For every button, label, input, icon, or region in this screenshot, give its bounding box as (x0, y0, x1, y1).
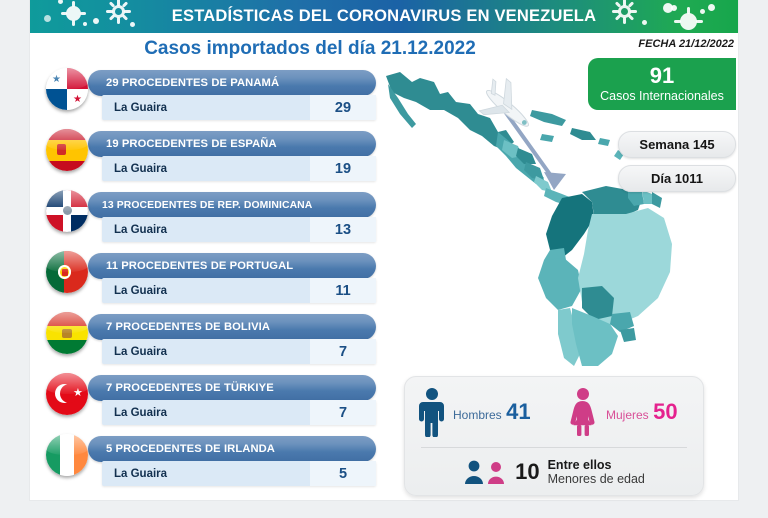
list-item[interactable]: ★ 7 PROCEDENTES DE TÜRKIYE La Guaira 7 (46, 373, 386, 434)
country-pill[interactable]: 11 PROCEDENTES DE PORTUGAL (88, 253, 376, 279)
male-stat: Hombres 41 (405, 381, 554, 443)
day-badge: Día 1011 (618, 165, 736, 192)
male-label: Hombres (453, 408, 502, 422)
flag-bolivia-icon (46, 312, 88, 354)
country-pill[interactable]: 29 PROCEDENTES DE PANAMÁ (88, 70, 376, 96)
female-count: 50 (653, 399, 677, 424)
international-cases-label: Casos Internacionales (600, 90, 724, 103)
country-title: 19 PROCEDENTES DE ESPAÑA (88, 138, 277, 150)
country-detail-row: La Guaira 11 (102, 278, 376, 303)
place-label: La Guaira (102, 224, 167, 236)
country-title: 5 PROCEDENTES DE IRLANDA (88, 443, 275, 455)
minors-row: 10 Entre ellos Menores de edad (405, 451, 703, 493)
fecha-label: FECHA 21/12/2022 (638, 38, 734, 50)
flag-turkiye-icon: ★ (46, 373, 88, 415)
case-count: 11 (310, 278, 376, 303)
case-count: 19 (310, 156, 376, 181)
flag-ireland-icon (46, 434, 88, 476)
country-detail-row: La Guaira 7 (102, 339, 376, 364)
map-region-jamaica (540, 134, 554, 142)
country-pill[interactable]: 7 PROCEDENTES DE BOLIVIA (88, 314, 376, 340)
map-region-uruguay (620, 328, 636, 342)
map-region-hispaniola (570, 128, 596, 140)
minors-avatars-icon (463, 459, 509, 485)
country-rows-list: ★ ★ 29 PROCEDENTES DE PANAMÁ La Guaira 2… (46, 68, 386, 495)
flag-panama-icon: ★ ★ (46, 68, 88, 110)
country-detail-row: La Guaira 13 (102, 217, 376, 242)
international-cases-number: 91 (650, 65, 674, 87)
country-detail-row: La Guaira 5 (102, 461, 376, 486)
flag-spain-icon (46, 129, 88, 171)
country-title: 11 PROCEDENTES DE PORTUGAL (88, 260, 293, 272)
list-item[interactable]: 13 PROCEDENTES DE REP. DOMINICANA La Gua… (46, 190, 386, 251)
gender-stats-panel: Hombres 41 Mujeres 50 (404, 376, 704, 496)
female-stat: Mujeres 50 (554, 381, 703, 443)
flag-portugal-icon (46, 251, 88, 293)
female-label: Mujeres (606, 408, 649, 422)
country-pill[interactable]: 5 PROCEDENTES DE IRLANDA (88, 436, 376, 462)
page-title: ESTADÍSTICAS DEL CORONAVIRUS EN VENEZUEL… (30, 0, 738, 33)
map-region-puerto-rico (598, 138, 610, 146)
country-pill[interactable]: 7 PROCEDENTES DE TÜRKIYE (88, 375, 376, 401)
male-stat-text: Hombres 41 (453, 401, 531, 424)
international-cases-box: 91 Casos Internacionales (588, 58, 736, 110)
place-label: La Guaira (102, 163, 167, 175)
minors-count: 10 (515, 461, 539, 483)
case-count: 5 (310, 461, 376, 486)
minors-text: Entre ellos Menores de edad (548, 458, 645, 487)
female-figure-icon (568, 387, 598, 437)
week-badge: Semana 145 (618, 131, 736, 158)
map-region-peru (538, 258, 582, 310)
flag-dominican-republic-icon (46, 190, 88, 232)
list-item[interactable]: ★ ★ 29 PROCEDENTES DE PANAMÁ La Guaira 2… (46, 68, 386, 129)
country-pill[interactable]: 19 PROCEDENTES DE ESPAÑA (88, 131, 376, 157)
case-count: 7 (310, 339, 376, 364)
country-title: 29 PROCEDENTES DE PANAMÁ (88, 77, 279, 89)
list-item[interactable]: 11 PROCEDENTES DE PORTUGAL La Guaira 11 (46, 251, 386, 312)
case-count: 13 (310, 217, 376, 242)
minors-line-2: Menores de edad (548, 472, 645, 486)
list-item[interactable]: 5 PROCEDENTES DE IRLANDA La Guaira 5 (46, 434, 386, 495)
map-region-french-guiana (652, 192, 662, 208)
female-stat-text: Mujeres 50 (606, 401, 678, 424)
country-detail-row: La Guaira 29 (102, 95, 376, 120)
list-item[interactable]: 19 PROCEDENTES DE ESPAÑA La Guaira 19 (46, 129, 386, 190)
country-detail-row: La Guaira 19 (102, 156, 376, 181)
country-detail-row: La Guaira 7 (102, 400, 376, 425)
map-region-cuba (530, 110, 566, 126)
place-label: La Guaira (102, 407, 167, 419)
male-figure-icon (419, 387, 445, 437)
country-pill[interactable]: 13 PROCEDENTES DE REP. DOMINICANA (88, 192, 376, 218)
case-count: 7 (310, 400, 376, 425)
male-count: 41 (506, 399, 530, 424)
place-label: La Guaira (102, 285, 167, 297)
country-title: 7 PROCEDENTES DE BOLIVIA (88, 321, 270, 333)
header-banner: ESTADÍSTICAS DEL CORONAVIRUS EN VENEZUEL… (30, 0, 738, 33)
minors-line-1: Entre ellos (548, 458, 645, 472)
gender-top-row: Hombres 41 Mujeres 50 (405, 381, 703, 443)
case-count: 29 (310, 95, 376, 120)
country-title: 7 PROCEDENTES DE TÜRKIYE (88, 382, 274, 394)
infographic-canvas: ESTADÍSTICAS DEL CORONAVIRUS EN VENEZUEL… (0, 0, 768, 518)
country-title: 13 PROCEDENTES DE REP. DOMINICANA (88, 200, 312, 211)
list-item[interactable]: 7 PROCEDENTES DE BOLIVIA La Guaira 7 (46, 312, 386, 373)
place-label: La Guaira (102, 346, 167, 358)
divider (421, 447, 687, 448)
place-label: La Guaira (102, 102, 167, 114)
place-label: La Guaira (102, 468, 167, 480)
